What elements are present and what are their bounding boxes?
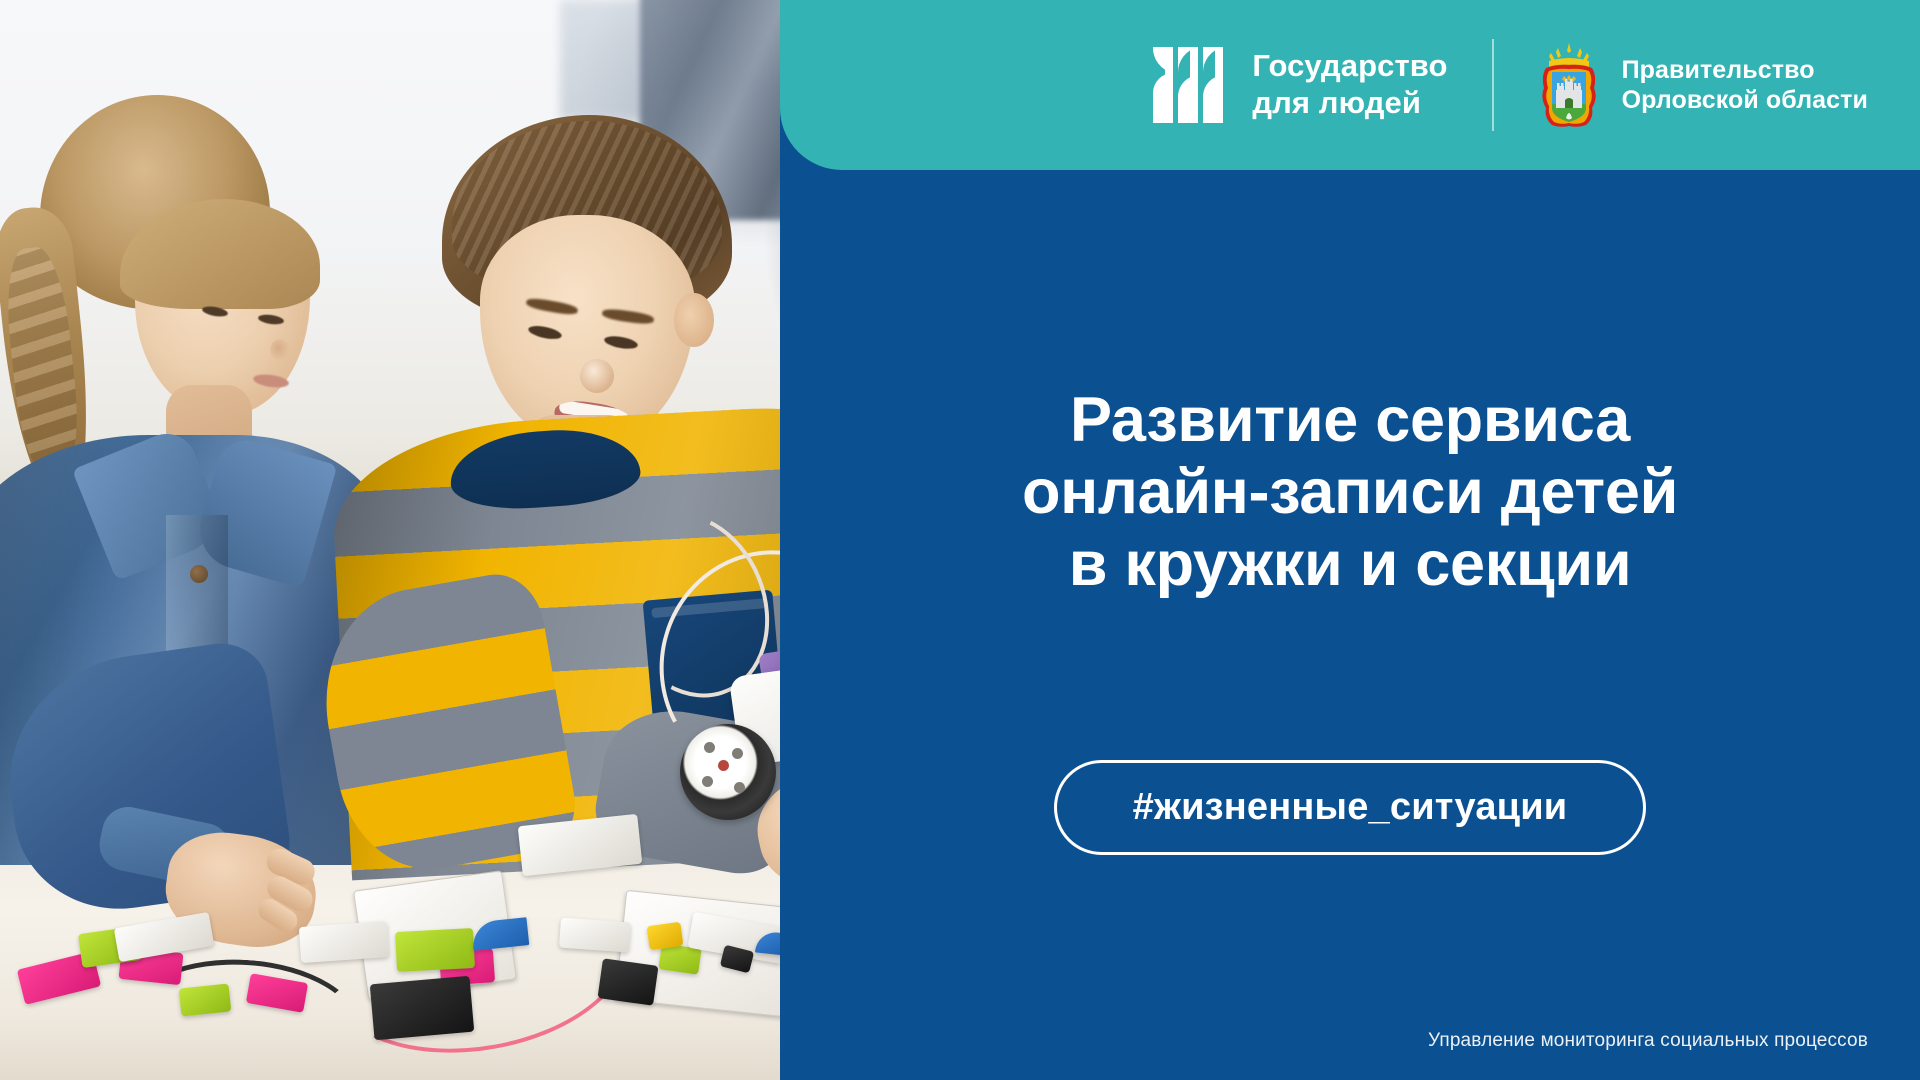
poster-canvas: Развитие сервиса онлайн-записи детей в к… [0,0,1920,1080]
black-part [597,958,658,1005]
page-title: Развитие сервиса онлайн-записи детей в к… [780,385,1920,600]
black-part [370,976,475,1041]
gosuslugi-logo-block[interactable]: Государство для людей [1152,45,1447,125]
oryol-oblast-coat-of-arms-icon [1538,42,1600,128]
yellow-part [646,922,683,950]
government-logo-text: Правительство Орловской области [1622,55,1868,116]
boy-ear [674,293,714,347]
blue-content-card: Развитие сервиса онлайн-записи детей в к… [780,160,1920,1080]
hashtag-row: #жизненные_ситуации [780,760,1920,855]
robot-hub-dot [734,782,745,793]
government-logo-block[interactable]: Правительство Орловской области [1538,42,1868,128]
robot-wheel-front [680,724,776,820]
gosuslugi-logo-text: Государство для людей [1252,48,1447,121]
robot-hub-dot-red [718,760,729,771]
vertical-divider [1492,39,1494,131]
robot-hub-dot [702,776,713,787]
gosuslugi-three-bars-logo-icon [1152,45,1226,125]
green-part [395,928,475,972]
branding-row: Государство для людей [780,0,1920,170]
boy-nose [580,359,614,393]
branding-header: Государство для людей [780,0,1920,170]
info-panel: Развитие сервиса онлайн-записи детей в к… [780,0,1920,1080]
white-part [559,918,631,953]
department-credit: Управление мониторинга социальных процес… [1428,1030,1868,1052]
robot-hub-dot [732,748,743,759]
white-part [299,921,389,963]
hashtag-button[interactable]: #жизненные_ситуации [1054,760,1646,855]
girl-nose [270,339,290,361]
window-light-blur [560,0,650,120]
robot-hub-dot [704,742,715,753]
green-part [179,983,232,1016]
girl-shirt-button [190,565,208,583]
